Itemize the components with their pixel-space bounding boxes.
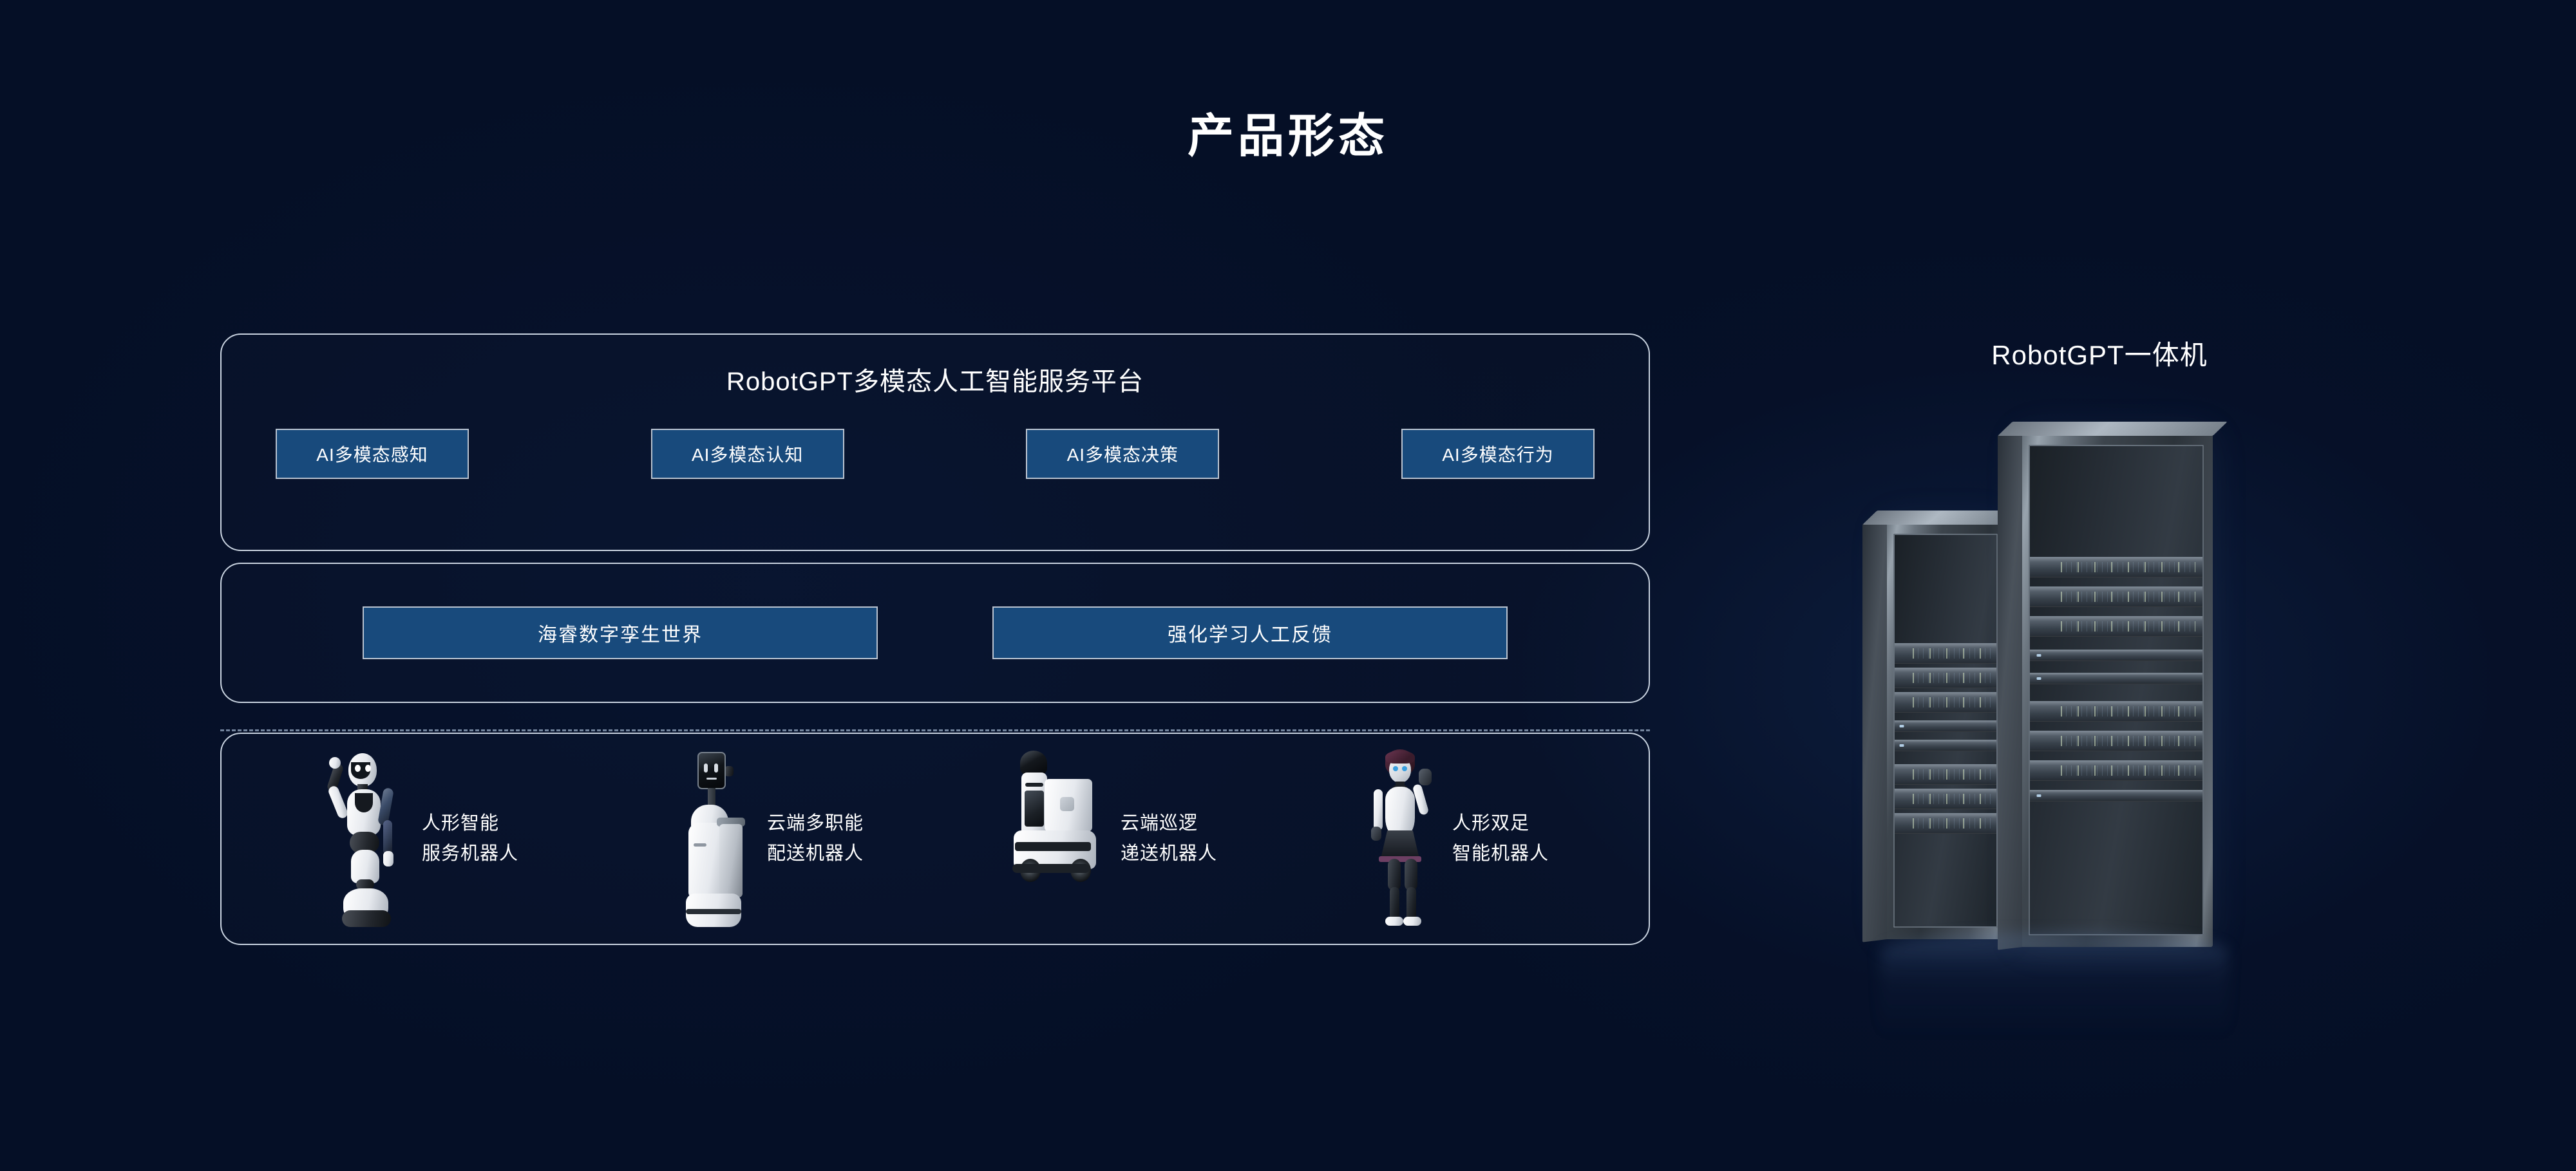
slide-canvas: 产品形态 RobotGPT多模态人工智能服务平台 AI多模态感知 AI多模态认知… [0, 0, 2576, 1171]
capability-chip-label: AI多模态感知 [316, 441, 428, 467]
server-rack-icon [1855, 401, 2344, 1045]
humanoid-service-robot-icon [316, 748, 413, 930]
rack-floor-reflection [1880, 933, 2228, 1036]
server-rack-primary [2020, 432, 2213, 947]
robot-label-line2: 服务机器人 [422, 839, 518, 869]
engine-button-digital-twin[interactable]: 海睿数字孪生世界 [363, 606, 878, 659]
robot-label-line1: 人形智能 [422, 809, 518, 839]
robot-product-biped-humanoid[interactable]: 人形双足 智能机器人 [1280, 748, 1625, 930]
capability-chip-label: AI多模态认知 [692, 441, 803, 467]
robot-product-cloud-delivery[interactable]: 云端多职能 配送机器人 [590, 748, 935, 930]
capability-chip-cognition[interactable]: AI多模态认知 [651, 429, 844, 479]
biped-humanoid-robot-icon [1357, 748, 1443, 930]
engine-button-label: 强化学习人工反馈 [1168, 619, 1332, 647]
engine-button-rlhf[interactable]: 强化学习人工反馈 [992, 606, 1508, 659]
capability-chip-label: AI多模态行为 [1442, 441, 1553, 467]
capability-chip-row: AI多模态感知 AI多模态认知 AI多模态决策 AI多模态行为 [222, 429, 1649, 479]
engine-panel: 海睿数字孪生世界 强化学习人工反馈 [220, 563, 1650, 703]
engine-button-label: 海睿数字孪生世界 [538, 619, 703, 647]
rack-top-panel [1998, 422, 2228, 436]
server-rack-secondary [1884, 521, 2007, 939]
rack-side-panel [1862, 521, 1887, 942]
robot-product-label: 人形双足 智能机器人 [1452, 809, 1549, 869]
engine-button-row: 海睿数字孪生世界 强化学习人工反馈 [222, 564, 1649, 659]
robot-products-panel: 人形智能 服务机器人 [220, 733, 1650, 945]
capability-chip-label: AI多模态决策 [1067, 441, 1179, 467]
robot-label-line1: 人形双足 [1452, 809, 1549, 839]
robot-product-label: 人形智能 服务机器人 [422, 809, 518, 869]
platform-architecture-column: RobotGPT多模态人工智能服务平台 AI多模态感知 AI多模态认知 AI多模… [220, 333, 1650, 945]
rack-bay-column [1893, 534, 1998, 928]
robot-product-label: 云端多职能 配送机器人 [767, 809, 864, 869]
capability-chip-behavior[interactable]: AI多模态行为 [1401, 429, 1595, 479]
cloud-delivery-robot-icon [661, 748, 758, 930]
robot-label-line1: 云端多职能 [767, 809, 864, 839]
rack-side-panel [1998, 432, 2022, 950]
robot-product-row: 人形智能 服务机器人 [222, 734, 1649, 944]
cloud-patrol-robot-icon [998, 748, 1112, 930]
capability-chip-perception[interactable]: AI多模态感知 [276, 429, 469, 479]
platform-title: RobotGPT多模态人工智能服务平台 [222, 335, 1649, 398]
robot-label-line2: 配送机器人 [767, 839, 864, 869]
robot-label-line1: 云端巡逻 [1121, 809, 1217, 839]
robot-product-humanoid-service[interactable]: 人形智能 服务机器人 [245, 748, 590, 930]
robot-label-line2: 智能机器人 [1452, 839, 1549, 869]
platform-panel: RobotGPT多模态人工智能服务平台 AI多模态感知 AI多模态认知 AI多模… [220, 333, 1650, 551]
appliance-column: RobotGPT一体机 [1855, 333, 2344, 1045]
rack-bay-column [2029, 445, 2204, 935]
robot-product-label: 云端巡逻 递送机器人 [1121, 809, 1217, 869]
appliance-title: RobotGPT一体机 [1855, 333, 2344, 373]
robot-product-cloud-patrol[interactable]: 云端巡逻 递送机器人 [935, 748, 1280, 930]
robot-label-line2: 递送机器人 [1121, 839, 1217, 869]
capability-chip-decision[interactable]: AI多模态决策 [1026, 429, 1219, 479]
page-title: 产品形态 [0, 98, 2576, 165]
section-divider [220, 729, 1650, 731]
